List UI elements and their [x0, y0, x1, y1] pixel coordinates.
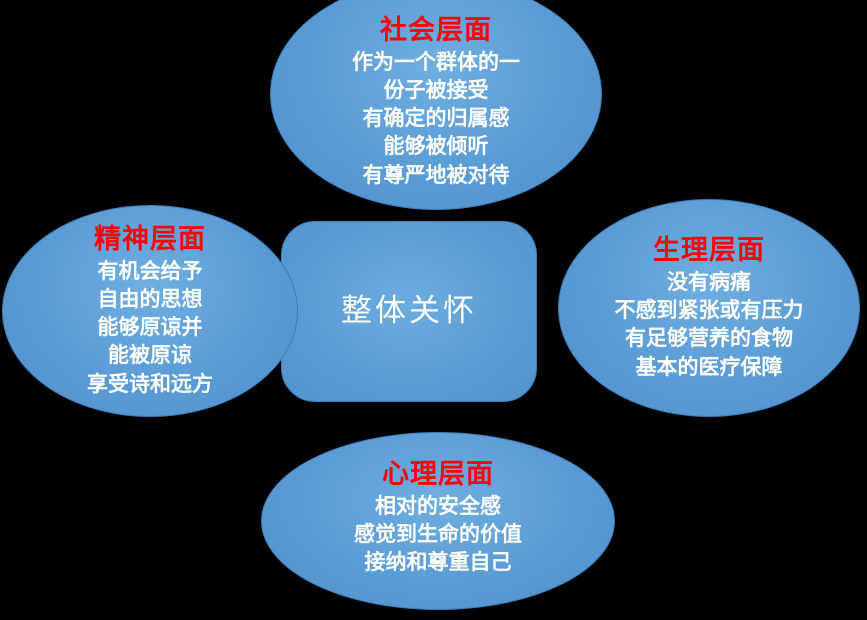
node-spiritual-dimension[interactable]: 精神层面 有机会给予 自由的思想 能够原谅并 能被原谅 享受诗和远方: [2, 205, 298, 417]
node-spiritual-line-2: 自由的思想: [87, 285, 213, 313]
node-social-dimension[interactable]: 社会层面 作为一个群体的一 份子被接受 有确定的归属感 能够被倾听 有尊严地被对…: [270, 0, 602, 210]
node-social-line-5: 有尊严地被对待: [352, 161, 520, 189]
node-social-lines: 作为一个群体的一 份子被接受 有确定的归属感 能够被倾听 有尊严地被对待: [352, 48, 520, 189]
node-physical-line-3: 有足够营养的食物: [615, 324, 804, 352]
diagram-canvas: 整体关怀 社会层面 作为一个群体的一 份子被接受 有确定的归属感 能够被倾听 有…: [0, 0, 867, 620]
center-node-label: 整体关怀: [341, 292, 477, 332]
center-node-holistic-care[interactable]: 整体关怀: [281, 221, 537, 402]
node-psychological-line-2: 感觉到生命的价值: [354, 520, 522, 548]
node-spiritual-line-1: 有机会给予: [87, 257, 213, 285]
node-spiritual-line-5: 享受诗和远方: [87, 370, 213, 398]
node-psychological-dimension[interactable]: 心理层面 相对的安全感 感觉到生命的价值 接纳和尊重自己: [261, 432, 615, 610]
node-psychological-lines: 相对的安全感 感觉到生命的价值 接纳和尊重自己: [354, 492, 522, 576]
node-physical-line-2: 不感到紧张或有压力: [615, 296, 804, 324]
node-social-title: 社会层面: [380, 15, 492, 47]
node-physical-line-1: 没有病痛: [615, 268, 804, 296]
node-spiritual-lines: 有机会给予 自由的思想 能够原谅并 能被原谅 享受诗和远方: [87, 257, 213, 398]
node-psychological-line-3: 接纳和尊重自己: [354, 548, 522, 576]
node-psychological-title: 心理层面: [382, 459, 494, 491]
node-social-line-3: 有确定的归属感: [352, 104, 520, 132]
node-spiritual-title: 精神层面: [94, 224, 206, 256]
node-social-line-4: 能够被倾听: [352, 132, 520, 160]
node-physical-line-4: 基本的医疗保障: [615, 353, 804, 381]
node-physical-title: 生理层面: [653, 235, 765, 267]
node-social-line-2: 份子被接受: [352, 76, 520, 104]
node-social-line-1: 作为一个群体的一: [352, 48, 520, 76]
node-spiritual-line-3: 能够原谅并: [87, 313, 213, 341]
node-psychological-line-1: 相对的安全感: [354, 492, 522, 520]
node-physical-lines: 没有病痛 不感到紧张或有压力 有足够营养的食物 基本的医疗保障: [615, 268, 804, 381]
node-physical-dimension[interactable]: 生理层面 没有病痛 不感到紧张或有压力 有足够营养的食物 基本的医疗保障: [558, 199, 860, 417]
node-spiritual-line-4: 能被原谅: [87, 341, 213, 369]
